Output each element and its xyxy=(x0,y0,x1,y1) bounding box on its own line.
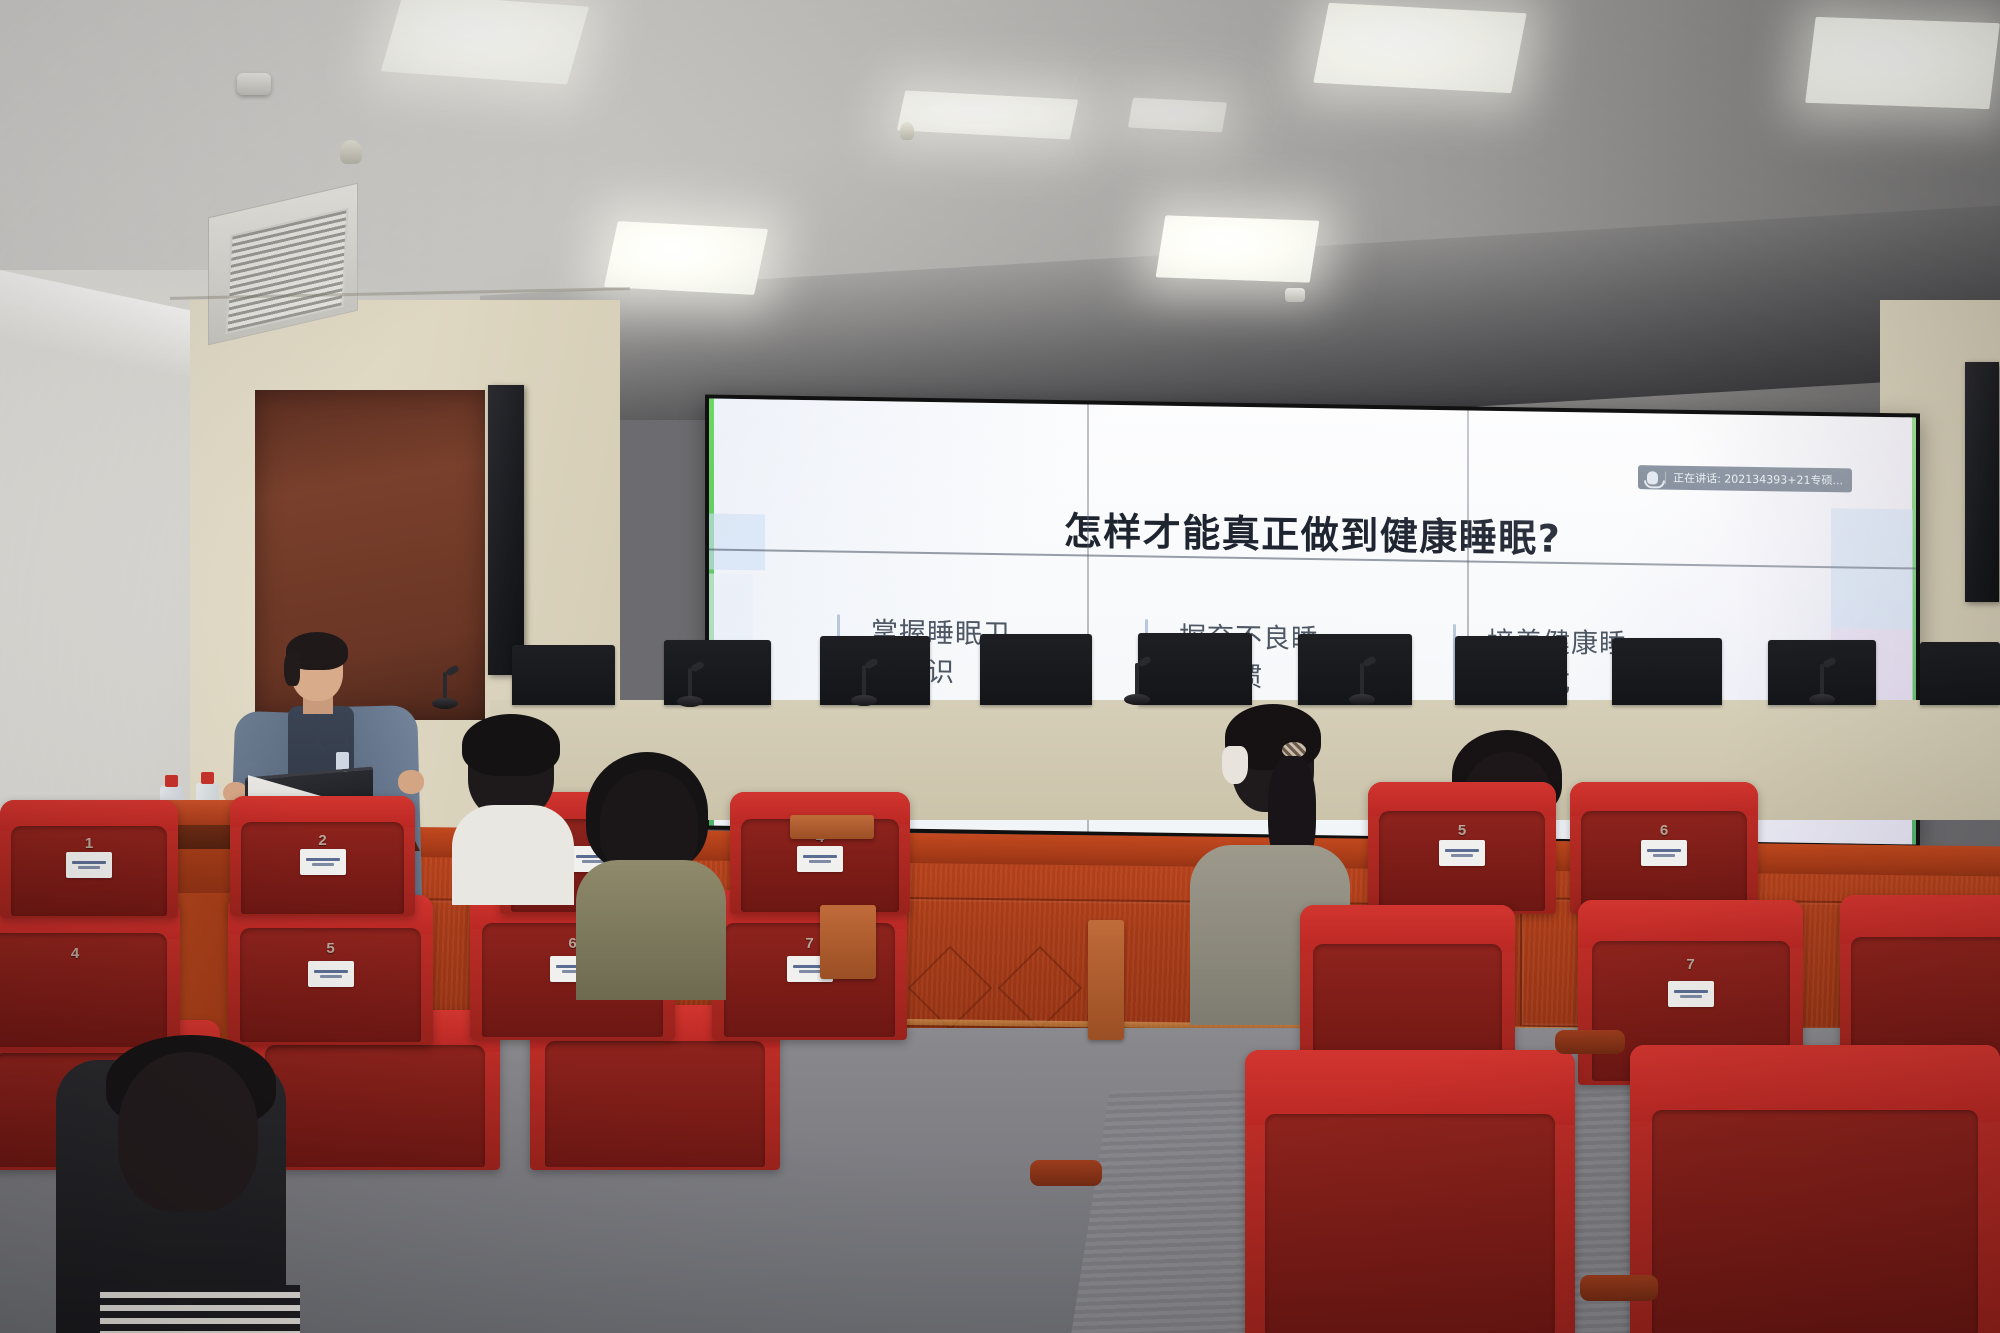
auditorium-seat[interactable]: 2 xyxy=(230,796,415,916)
table-microphone xyxy=(862,665,866,699)
smoke-detector-icon xyxy=(237,73,271,95)
seat-back-pad xyxy=(1265,1114,1555,1333)
microphone-base xyxy=(1809,694,1835,705)
lecture-hall-photo: 怎样才能真正做到健康睡眠? 掌握睡眠卫 生知识 摒弃不良睡 眠习惯 xyxy=(0,0,2000,1333)
microphone-base xyxy=(432,698,458,709)
seat-armrest xyxy=(1555,1030,1625,1054)
auditorium-seat[interactable]: 6 xyxy=(1570,782,1758,914)
stage-chair xyxy=(1455,636,1567,705)
microphone-icon xyxy=(1647,471,1658,484)
seat-number: 6 xyxy=(1660,822,1668,839)
smoke-detector-icon xyxy=(1285,288,1305,302)
auditorium-seat[interactable]: 5 xyxy=(228,895,433,1045)
seat-armrest xyxy=(1580,1275,1658,1301)
seat-writing-tablet xyxy=(1088,920,1124,1040)
ceiling-light-panel xyxy=(1805,17,2000,109)
ceiling-light-panel xyxy=(1313,3,1527,93)
stage-chair xyxy=(1612,638,1722,705)
seat-number: 1 xyxy=(85,835,93,852)
auditorium-seat[interactable]: 5 xyxy=(1368,782,1556,914)
auditorium-seat[interactable] xyxy=(1630,1045,2000,1333)
ceiling-light-panel xyxy=(381,0,590,85)
seat-label-tag xyxy=(1641,840,1687,866)
microphone-base xyxy=(1349,694,1375,705)
auditorium-seat[interactable] xyxy=(1245,1050,1575,1333)
seat-label-tag xyxy=(308,961,354,987)
seat-label-tag xyxy=(1668,981,1714,1007)
ceiling-light-panel xyxy=(1128,98,1227,133)
auditorium-seat[interactable]: 4 xyxy=(730,792,910,914)
face-mask xyxy=(1222,746,1248,784)
table-microphone xyxy=(1820,664,1824,698)
audience-person-hair xyxy=(462,714,560,776)
stage-chair xyxy=(980,634,1092,705)
seat-label-tag xyxy=(66,852,112,878)
stage-chair xyxy=(820,636,930,705)
seat-writing-tablet xyxy=(790,815,874,839)
seat-number: 4 xyxy=(71,945,79,962)
microphone-base xyxy=(851,695,877,706)
microphone-base xyxy=(1124,694,1150,705)
seat-number: 7 xyxy=(805,935,813,952)
audience-person-head xyxy=(118,1052,258,1212)
auditorium-seat[interactable]: 4 xyxy=(0,900,180,1050)
sprinkler-head-icon xyxy=(900,122,914,140)
divider xyxy=(1665,471,1666,484)
seat-number: 5 xyxy=(326,940,334,957)
auditorium-seat[interactable]: 1 xyxy=(0,800,178,918)
seat-armrest xyxy=(1030,1160,1102,1186)
seat-label-tag xyxy=(797,846,843,872)
seat-number: 7 xyxy=(1686,956,1694,973)
seat-back-pad xyxy=(265,1045,485,1167)
seat-back-pad xyxy=(1652,1110,1978,1333)
speaker-glasses-icon xyxy=(296,662,339,671)
wall-speaker-left xyxy=(488,385,524,675)
microphone-base xyxy=(677,696,703,707)
stage-chair xyxy=(1138,633,1252,705)
seat-writing-tablet xyxy=(820,905,876,979)
audience-person-collar xyxy=(100,1285,300,1333)
stage-chair xyxy=(664,640,771,705)
stage-chair xyxy=(512,645,615,705)
speaker-hand-right xyxy=(398,770,424,794)
seat-number: 2 xyxy=(318,832,326,849)
seat-label-tag xyxy=(300,849,346,875)
speaking-status-label: 正在讲话: 202134393+21专硕... xyxy=(1673,470,1843,489)
audience-person-body xyxy=(576,860,726,1000)
sprinkler-head-icon xyxy=(340,140,362,164)
seat-back-pad xyxy=(545,1041,765,1166)
stage-chair xyxy=(1920,642,2000,705)
seat-label-tag xyxy=(1439,840,1485,866)
wall-speaker-right xyxy=(1965,362,1999,602)
seat-number: 5 xyxy=(1458,822,1466,839)
seat-back-pad xyxy=(0,933,167,1047)
speaking-status-badge[interactable]: 正在讲话: 202134393+21专硕... xyxy=(1638,465,1852,492)
audience-person-body xyxy=(452,805,574,905)
ceiling-light-panel xyxy=(1156,215,1320,282)
ceiling-light-panel xyxy=(604,221,768,295)
